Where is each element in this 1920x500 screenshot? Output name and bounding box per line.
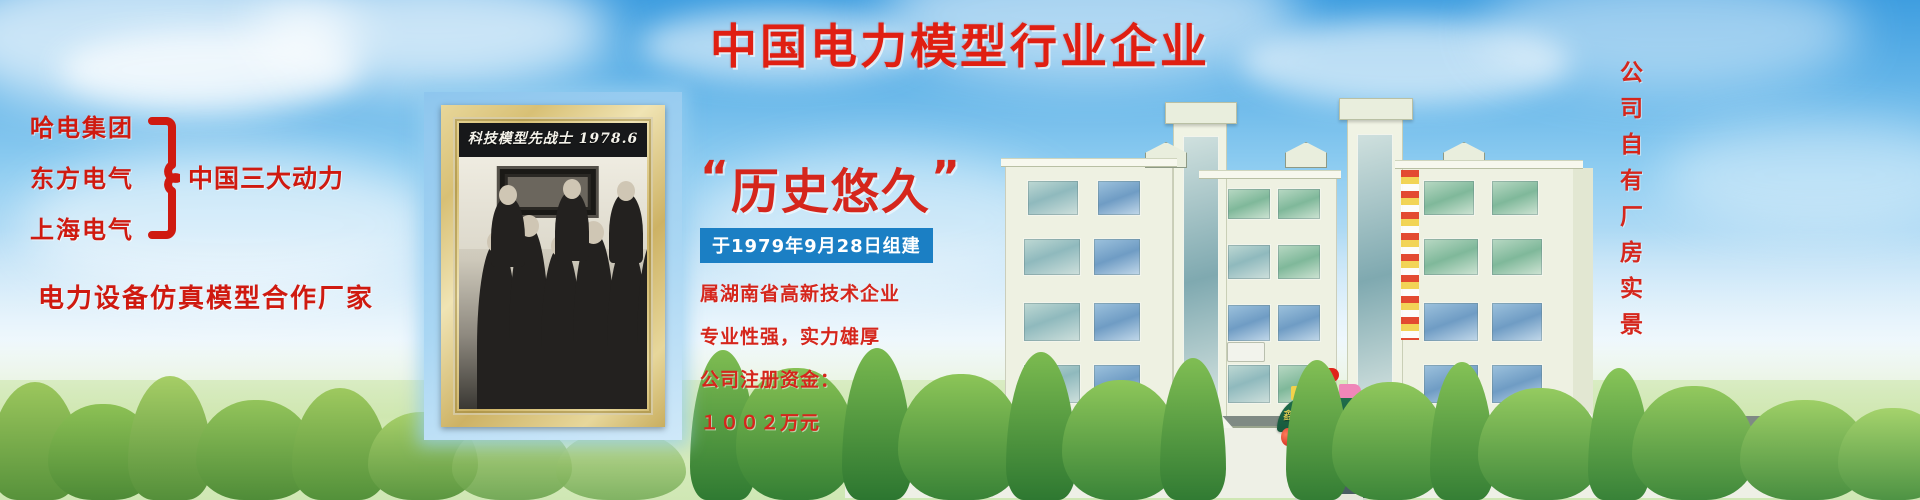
quote-close-mark: ” xyxy=(931,152,962,203)
quote-open-mark: “ xyxy=(700,152,731,203)
company-name: 哈电集团 xyxy=(30,108,134,143)
vertical-char: 自 xyxy=(1620,134,1643,157)
tower-cap-left xyxy=(1165,102,1237,124)
window xyxy=(1023,302,1081,342)
vertical-char: 房 xyxy=(1620,242,1643,265)
curly-brace-icon xyxy=(146,117,180,237)
photo-person-head xyxy=(563,179,581,199)
tree xyxy=(556,430,686,500)
window xyxy=(1423,302,1479,342)
cornice-left xyxy=(1001,158,1177,167)
company-list: 哈电集团 东方电气 上海电气 xyxy=(30,108,134,245)
middle-text-block: “历史悠久” 于1979年9月28日组建 属湖南省高新技术企业 专业性强，实力雄… xyxy=(700,152,970,435)
window xyxy=(1227,244,1271,280)
history-headline: “历史悠久” xyxy=(700,152,970,222)
window xyxy=(1491,238,1543,276)
cornice-right xyxy=(1395,160,1583,169)
right-vertical-text: 公 司 自 有 厂 房 实 景 xyxy=(1620,62,1643,337)
window xyxy=(1093,302,1141,342)
tower-cap-right xyxy=(1339,98,1413,120)
vertical-char: 厂 xyxy=(1620,206,1643,229)
window xyxy=(1423,238,1479,276)
company-name: 上海电气 xyxy=(30,210,134,245)
window xyxy=(1277,188,1321,220)
photo-caption-text: 科技模型先战士 1978.6 xyxy=(459,128,647,148)
cloud xyxy=(1660,120,1920,230)
history-headline-text: 历史悠久 xyxy=(731,164,931,220)
tree xyxy=(1632,386,1756,500)
photo-person xyxy=(609,193,643,263)
company-name: 东方电气 xyxy=(30,159,134,194)
framed-historical-photo: 科技模型先战士 1978.6 xyxy=(424,92,682,440)
vertical-char: 实 xyxy=(1620,278,1643,301)
tree xyxy=(1160,358,1226,500)
window xyxy=(1491,180,1539,216)
photo-person-head xyxy=(499,185,517,205)
window xyxy=(1227,188,1271,220)
window xyxy=(1097,180,1141,216)
tree xyxy=(1478,388,1602,500)
vertical-char: 有 xyxy=(1620,170,1643,193)
detail-line: 专业性强，实力雄厚 xyxy=(700,322,970,349)
window xyxy=(1023,238,1081,276)
photo-frame: 科技模型先战士 1978.6 xyxy=(441,105,665,427)
detail-line: 属湖南省高新技术企业 xyxy=(700,279,970,306)
window xyxy=(1227,304,1271,342)
window xyxy=(1277,244,1321,280)
left-caption: 电力设备仿真模型合作厂家 xyxy=(38,278,374,315)
left-text-block: 哈电集团 东方电气 上海电气 中国三大动力 xyxy=(30,108,390,245)
photo-person xyxy=(555,191,589,261)
festive-banner-strip xyxy=(1401,170,1419,340)
vertical-char: 司 xyxy=(1620,98,1643,121)
three-powers-group: 哈电集团 东方电气 上海电气 中国三大动力 xyxy=(30,108,390,245)
window xyxy=(1491,302,1543,342)
window xyxy=(1423,180,1475,216)
vertical-char: 景 xyxy=(1620,314,1643,337)
three-powers-label: 中国三大动力 xyxy=(188,159,344,195)
photo-image: 科技模型先战士 1978.6 xyxy=(459,123,647,409)
dormer-center xyxy=(1285,142,1327,168)
window xyxy=(1027,180,1079,216)
founded-date-badge: 于1979年9月28日组建 xyxy=(700,228,933,263)
detail-line: １００２万元 xyxy=(700,408,970,435)
window xyxy=(1093,238,1141,276)
photo-person-head xyxy=(617,181,635,201)
cornice-center xyxy=(1199,170,1341,179)
photo-person xyxy=(491,197,525,267)
vertical-char: 公 xyxy=(1620,62,1643,85)
window xyxy=(1277,304,1321,342)
promotional-banner: 鑫兴机器实业公司 中国电力模型行业企业 xyxy=(0,0,1920,500)
detail-line: 公司注册资金： xyxy=(700,365,970,392)
